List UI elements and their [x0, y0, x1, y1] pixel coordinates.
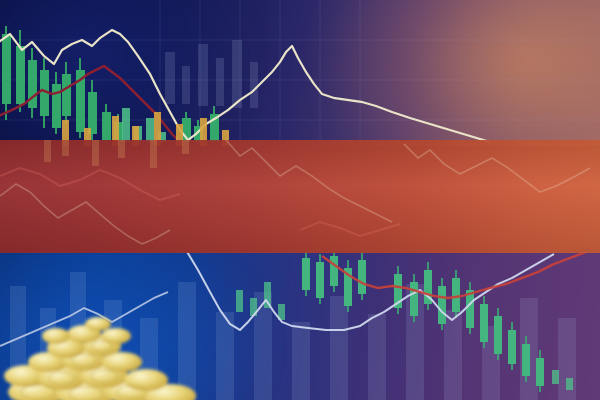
headline-banner: 乔治禁赛25场，76人反而大赚？返还587万美元 ，3大新星受益 — [0, 140, 600, 253]
bottom-background-section — [0, 252, 600, 400]
gold-coins-pile — [0, 252, 600, 400]
thumbnail-image[interactable]: 乔治禁赛25场，76人反而大赚？返还587万美元 ，3大新星受益 — [0, 0, 600, 400]
banner-background-chart — [0, 140, 600, 253]
top-amber-candles — [0, 0, 600, 146]
top-background-section — [0, 0, 600, 146]
